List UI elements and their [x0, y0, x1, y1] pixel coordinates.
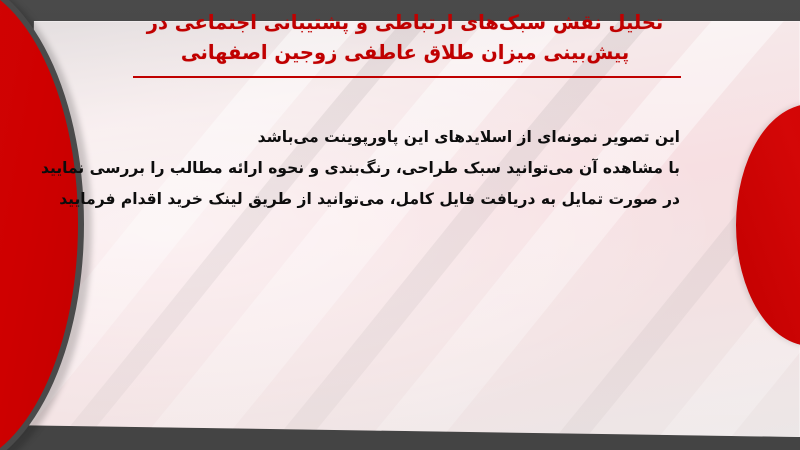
title-underline: [133, 76, 681, 78]
slide-title-line-1: تحلیل نقش سبک‌های ارتباطی و پشتیبانی اجت…: [120, 8, 690, 38]
slide-title: تحلیل نقش سبک‌های ارتباطی و پشتیبانی اجت…: [120, 8, 690, 68]
slide-body-line-1: این تصویر نمونه‌ای از اسلایدهای این پاور…: [60, 122, 680, 153]
background-arc-pattern: [27, 21, 800, 437]
slide-title-line-2: پیش‌بینی میزان طلاق عاطفی زوجین اصفهانی: [120, 38, 690, 68]
slide-body-line-2: با مشاهده آن می‌توانید سبک طراحی، رنگ‌بن…: [60, 153, 680, 184]
slide-body: این تصویر نمونه‌ای از اسلایدهای این پاور…: [60, 122, 680, 215]
slide-canvas: تحلیل نقش سبک‌های ارتباطی و پشتیبانی اجت…: [0, 0, 800, 450]
slide-body-line-3: در صورت تمایل به دریافت فایل کامل، می‌تو…: [60, 184, 680, 215]
slide-content-panel: [27, 21, 800, 437]
